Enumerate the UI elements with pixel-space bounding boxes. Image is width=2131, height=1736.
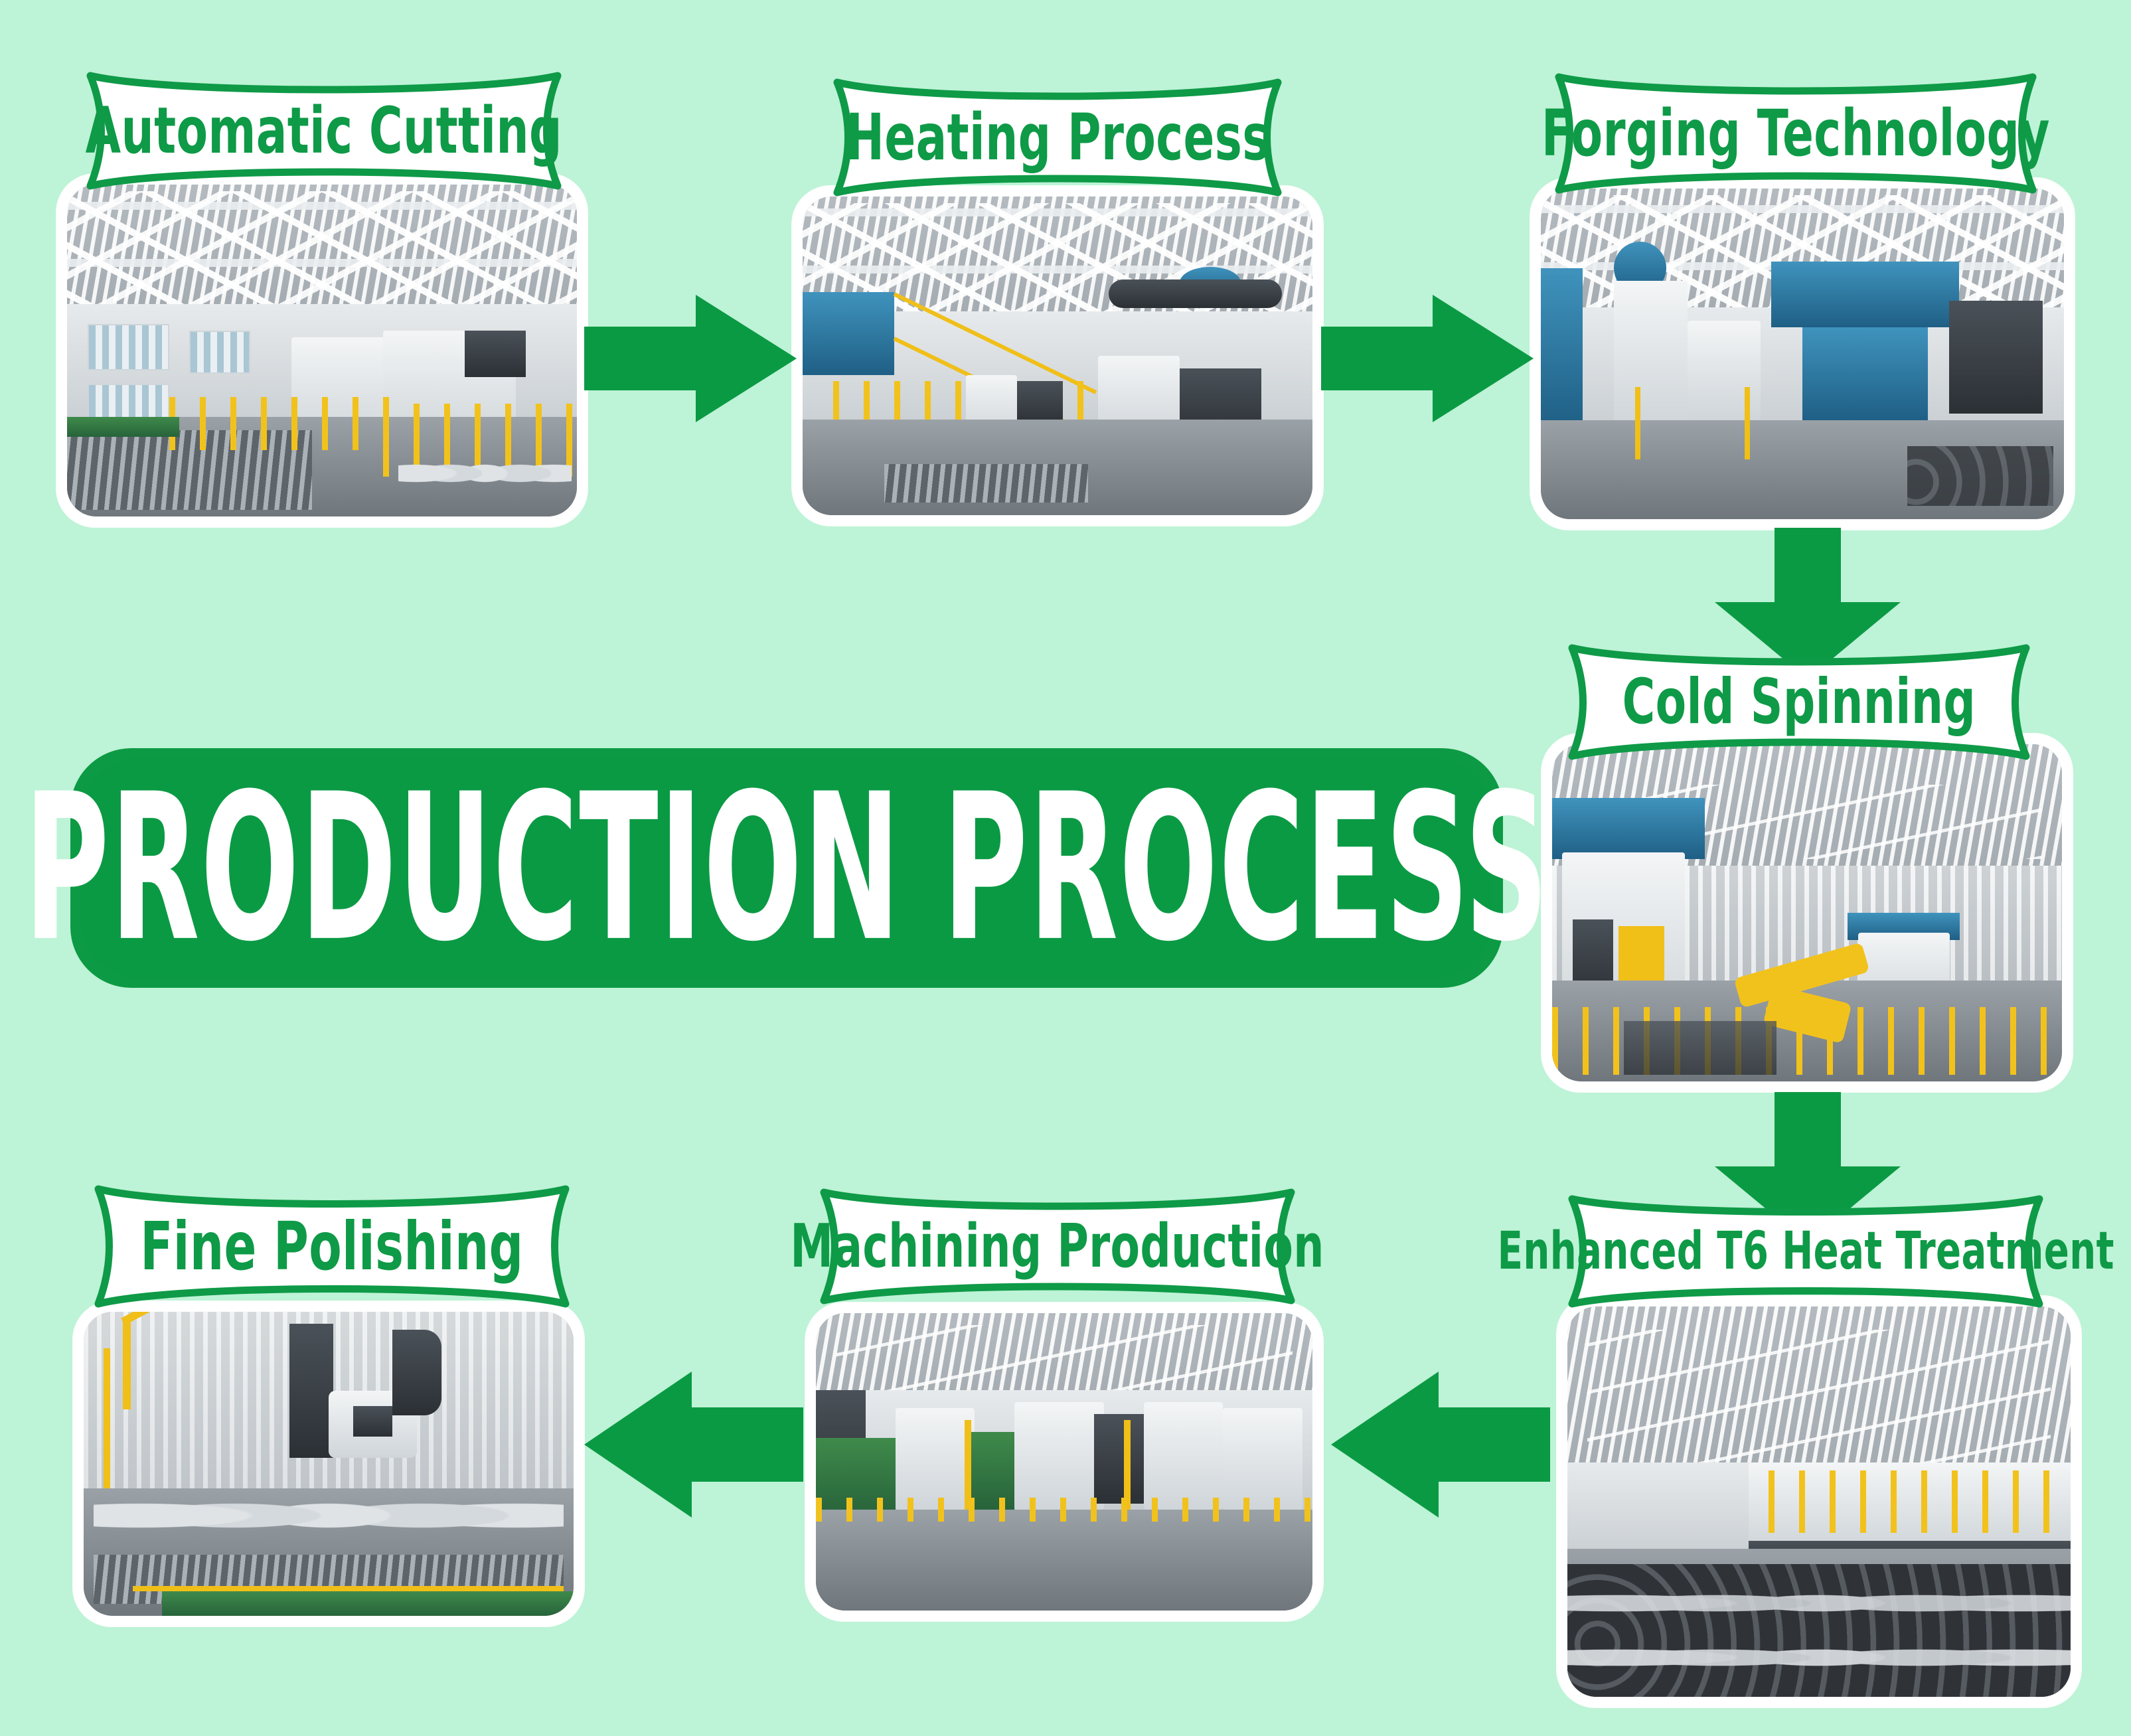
arrow-left-icon xyxy=(1331,1368,1550,1520)
photo-card-automatic-cutting xyxy=(56,174,588,527)
label-banner-automatic-cutting: Automatic Cutting xyxy=(85,72,563,190)
photo-card-forging-technology xyxy=(1530,178,2075,530)
production-process-infographic: Automatic Cutting Heating Process Forgin… xyxy=(0,0,2131,1736)
label-banner-fine-polishing: Fine Polishing xyxy=(93,1185,571,1308)
arrow-heating-to-forging xyxy=(1321,292,1534,425)
photo-card-machining-production xyxy=(805,1302,1323,1621)
arrow-machining-to-polish xyxy=(584,1368,803,1520)
label-text-t6-heat-treatment: Enhanced T6 Heat Treatment xyxy=(1497,1225,2114,1277)
arrow-cutting-to-heating xyxy=(584,292,797,425)
photo-cold-spinning xyxy=(1552,744,2062,1081)
photo-forging-technology xyxy=(1541,189,2064,519)
photo-machining-production xyxy=(816,1313,1312,1611)
photo-card-t6-heat-treatment xyxy=(1557,1296,2081,1707)
label-banner-heating-process: Heating Process xyxy=(832,78,1283,197)
arrow-t6-to-machining xyxy=(1331,1368,1550,1520)
label-banner-machining-production: Machining Production xyxy=(819,1188,1297,1304)
label-text-cold-spinning: Cold Spinning xyxy=(1622,671,1976,734)
photo-card-fine-polishing xyxy=(73,1301,584,1626)
label-banner-forging-technology: Forging Technology xyxy=(1553,73,2038,194)
photo-card-cold-spinning xyxy=(1541,734,2073,1092)
label-banner-t6-heat-treatment: Enhanced T6 Heat Treatment xyxy=(1567,1195,2045,1308)
label-text-machining-production: Machining Production xyxy=(791,1217,1324,1277)
label-text-heating-process: Heating Process xyxy=(846,106,1270,169)
label-text-forging-technology: Forging Technology xyxy=(1541,102,2050,165)
arrow-left-icon xyxy=(584,1368,803,1520)
photo-heating-process xyxy=(803,197,1312,515)
arrow-right-icon xyxy=(1321,292,1534,425)
arrow-right-icon xyxy=(584,292,797,425)
photo-t6-heat-treatment xyxy=(1567,1306,2071,1697)
page-title-text: PRODUCTION PROCESS xyxy=(24,767,1549,969)
photo-fine-polishing xyxy=(84,1312,574,1616)
label-banner-cold-spinning: Cold Spinning xyxy=(1567,644,2031,760)
label-text-fine-polishing: Fine Polishing xyxy=(140,1214,523,1280)
label-text-automatic-cutting: Automatic Cutting xyxy=(86,99,562,163)
photo-card-heating-process xyxy=(792,186,1323,526)
page-title: PRODUCTION PROCESS xyxy=(60,740,1514,996)
photo-automatic-cutting xyxy=(67,185,577,516)
